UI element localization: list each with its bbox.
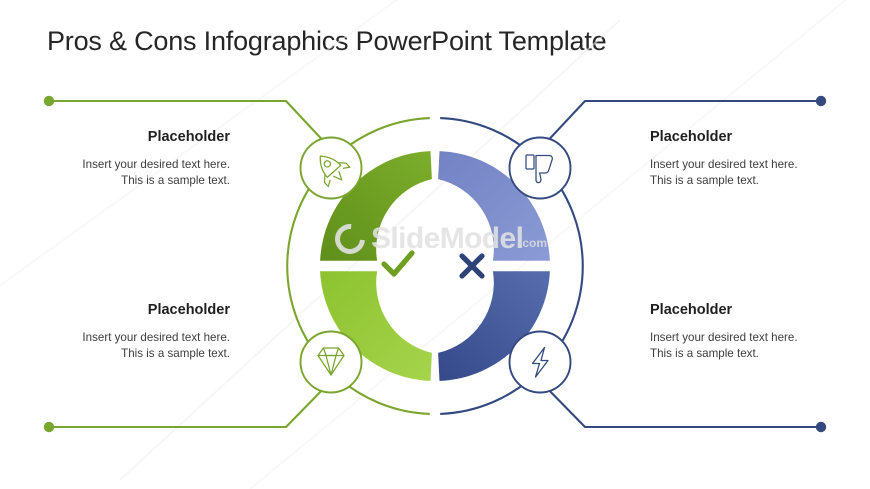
- endpoint-dot-top-left: [44, 96, 54, 106]
- placeholder-title: Placeholder: [650, 130, 870, 146]
- center-symbols: [384, 253, 482, 276]
- endpoint-dot-bottom-right: [816, 422, 826, 432]
- placeholder-body-line1: Insert your desired text here.: [650, 158, 798, 171]
- icon-badge-rocket[interactable]: [301, 138, 362, 199]
- endpoint-dot-top-right: [816, 96, 826, 106]
- placeholder-title: Placeholder: [650, 303, 870, 319]
- text-block-top-left: Placeholder Insert your desired text her…: [0, 130, 230, 190]
- text-block-bottom-left: Placeholder Insert your desired text her…: [0, 303, 230, 363]
- icon-circle-lightning: [510, 332, 571, 393]
- placeholder-title: Placeholder: [0, 130, 230, 146]
- cross-mark-icon: [462, 256, 482, 276]
- background-streaks: [0, 0, 870, 489]
- placeholder-body-line1: Insert your desired text here.: [82, 158, 230, 171]
- connector-bottom-right: [541, 382, 818, 427]
- icon-badge-diamond[interactable]: [301, 332, 362, 393]
- placeholder-body-line1: Insert your desired text here.: [82, 331, 230, 344]
- placeholder-body: Insert your desired text here. This is a…: [0, 157, 230, 190]
- placeholder-body: Insert your desired text here. This is a…: [0, 330, 230, 363]
- placeholder-title: Placeholder: [0, 303, 230, 319]
- connector-bottom-left: [52, 382, 330, 427]
- pros-cons-diagram: [0, 0, 870, 489]
- placeholder-body: Insert your desired text here. This is a…: [650, 157, 870, 190]
- placeholder-body-line2: This is a sample text.: [650, 174, 759, 187]
- icon-circle-diamond: [301, 332, 362, 393]
- icon-circle-rocket: [301, 138, 362, 199]
- text-block-bottom-right: Placeholder Insert your desired text her…: [650, 303, 870, 363]
- placeholder-body-line2: This is a sample text.: [121, 347, 230, 360]
- placeholder-body-line1: Insert your desired text here.: [650, 331, 798, 344]
- icon-circle-thumbs-down: [510, 138, 571, 199]
- slide-canvas: Pros & Cons Infographics PowerPoint Temp…: [0, 0, 870, 489]
- check-mark-icon: [384, 253, 412, 274]
- endpoint-dot-bottom-left: [44, 422, 54, 432]
- placeholder-body-line2: This is a sample text.: [650, 347, 759, 360]
- placeholder-body: Insert your desired text here. This is a…: [650, 330, 870, 363]
- text-block-top-right: Placeholder Insert your desired text her…: [650, 130, 870, 190]
- icon-badge-lightning[interactable]: [510, 332, 571, 393]
- icon-badge-thumbs-down[interactable]: [510, 138, 571, 199]
- placeholder-body-line2: This is a sample text.: [121, 174, 230, 187]
